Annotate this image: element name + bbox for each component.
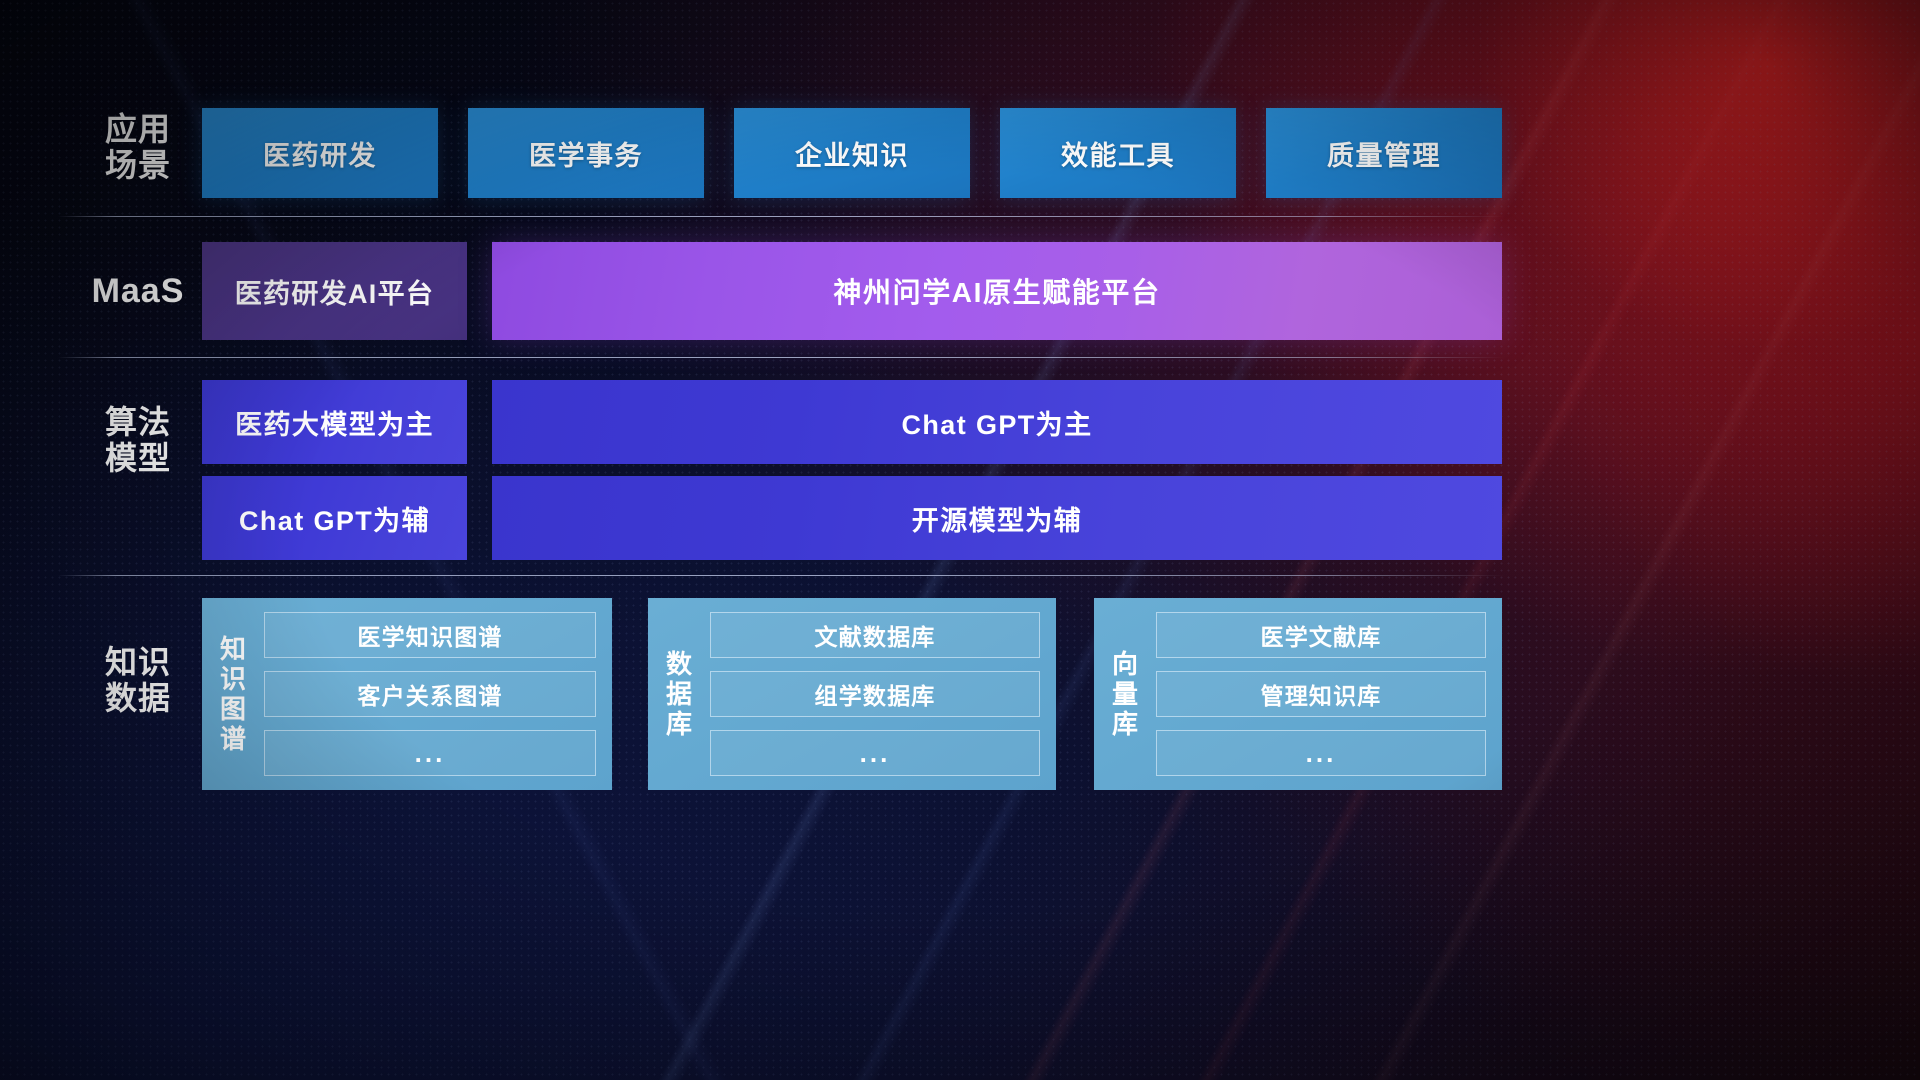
app-card-quality-management[interactable]: 质量管理 bbox=[1266, 108, 1502, 198]
knowledge-item-list: 医学文献库 管理知识库 ... bbox=[1156, 612, 1486, 776]
app-card-efficiency-tools[interactable]: 效能工具 bbox=[1000, 108, 1236, 198]
row-label-line: 模型 bbox=[78, 441, 198, 477]
algorithm-card-chatgpt-primary[interactable]: Chat GPT为主 bbox=[492, 380, 1502, 464]
algorithm-card-label: Chat GPT为辅 bbox=[239, 499, 430, 538]
knowledge-item[interactable]: 管理知识库 bbox=[1156, 671, 1486, 717]
knowledge-panel-title: 数 据 库 bbox=[648, 612, 710, 776]
title-char: 知 bbox=[220, 634, 246, 664]
title-char: 向 bbox=[1112, 649, 1138, 679]
knowledge-item-list: 医学知识图谱 客户关系图谱 ... bbox=[264, 612, 596, 776]
knowledge-item[interactable]: 医学知识图谱 bbox=[264, 612, 596, 658]
algorithm-card-label: Chat GPT为主 bbox=[901, 403, 1092, 442]
app-card-medical-affairs[interactable]: 医学事务 bbox=[468, 108, 704, 198]
title-char: 识 bbox=[220, 664, 246, 694]
knowledge-panel-title: 向 量 库 bbox=[1094, 612, 1156, 776]
title-char: 量 bbox=[1112, 679, 1138, 709]
row-label-maas: MaaS bbox=[74, 272, 202, 310]
knowledge-item[interactable]: 医学文献库 bbox=[1156, 612, 1486, 658]
row-label-line: 知识 bbox=[78, 645, 198, 681]
title-char: 库 bbox=[1112, 709, 1138, 739]
title-char: 据 bbox=[666, 679, 692, 709]
knowledge-panel-knowledge-graph[interactable]: 知 识 图 谱 医学知识图谱 客户关系图谱 ... bbox=[202, 598, 612, 790]
row-label-line: 算法 bbox=[78, 405, 198, 441]
app-card-label: 医学事务 bbox=[529, 134, 643, 173]
maas-card-shenzhou-wenxue-platform[interactable]: 神州问学AI原生赋能平台 bbox=[492, 242, 1502, 340]
knowledge-item[interactable]: 客户关系图谱 bbox=[264, 671, 596, 717]
knowledge-item[interactable]: 组学数据库 bbox=[710, 671, 1040, 717]
maas-card-label: 医药研发AI平台 bbox=[235, 272, 434, 311]
divider-row2-row3 bbox=[58, 357, 1504, 358]
knowledge-item-more[interactable]: ... bbox=[710, 730, 1040, 776]
algorithm-card-medicine-llm-primary[interactable]: 医药大模型为主 bbox=[202, 380, 467, 464]
title-char: 数 bbox=[666, 649, 692, 679]
algorithm-card-label: 开源模型为辅 bbox=[912, 499, 1082, 538]
title-char: 库 bbox=[666, 709, 692, 739]
app-card-label: 质量管理 bbox=[1327, 134, 1441, 173]
knowledge-item[interactable]: 文献数据库 bbox=[710, 612, 1040, 658]
app-card-medicine-rd[interactable]: 医药研发 bbox=[202, 108, 438, 198]
row-label-knowledge-data: 知识 数据 bbox=[78, 645, 198, 717]
app-card-label: 医药研发 bbox=[263, 134, 377, 173]
divider-row1-row2 bbox=[58, 216, 1504, 217]
title-char: 谱 bbox=[220, 724, 246, 754]
maas-card-label: 神州问学AI原生赋能平台 bbox=[833, 271, 1160, 311]
knowledge-panel-title: 知 识 图 谱 bbox=[202, 612, 264, 776]
knowledge-item-list: 文献数据库 组学数据库 ... bbox=[710, 612, 1040, 776]
algorithm-card-opensource-secondary[interactable]: 开源模型为辅 bbox=[492, 476, 1502, 560]
algorithm-card-chatgpt-secondary[interactable]: Chat GPT为辅 bbox=[202, 476, 467, 560]
divider-row3-row4 bbox=[58, 575, 1504, 576]
knowledge-panel-vector-store[interactable]: 向 量 库 医学文献库 管理知识库 ... bbox=[1094, 598, 1502, 790]
maas-card-medicine-ai-platform[interactable]: 医药研发AI平台 bbox=[202, 242, 467, 340]
row-label-line: 数据 bbox=[78, 681, 198, 717]
app-card-label: 企业知识 bbox=[795, 134, 909, 173]
knowledge-item-more[interactable]: ... bbox=[264, 730, 596, 776]
knowledge-panel-database[interactable]: 数 据 库 文献数据库 组学数据库 ... bbox=[648, 598, 1056, 790]
app-card-label: 效能工具 bbox=[1061, 134, 1175, 173]
app-card-enterprise-knowledge[interactable]: 企业知识 bbox=[734, 108, 970, 198]
title-char: 图 bbox=[220, 694, 246, 724]
row-label-line: MaaS bbox=[74, 272, 202, 310]
architecture-diagram-canvas: 应用 场景 医药研发 医学事务 企业知识 效能工具 质量管理 MaaS 医药研发… bbox=[0, 0, 1920, 1080]
row-label-algorithm-model: 算法 模型 bbox=[78, 405, 198, 477]
algorithm-card-label: 医药大模型为主 bbox=[235, 403, 434, 442]
row-label-line: 场景 bbox=[78, 148, 198, 184]
row-label-line: 应用 bbox=[78, 112, 198, 148]
row-label-application-scenarios: 应用 场景 bbox=[78, 112, 198, 184]
knowledge-item-more[interactable]: ... bbox=[1156, 730, 1486, 776]
